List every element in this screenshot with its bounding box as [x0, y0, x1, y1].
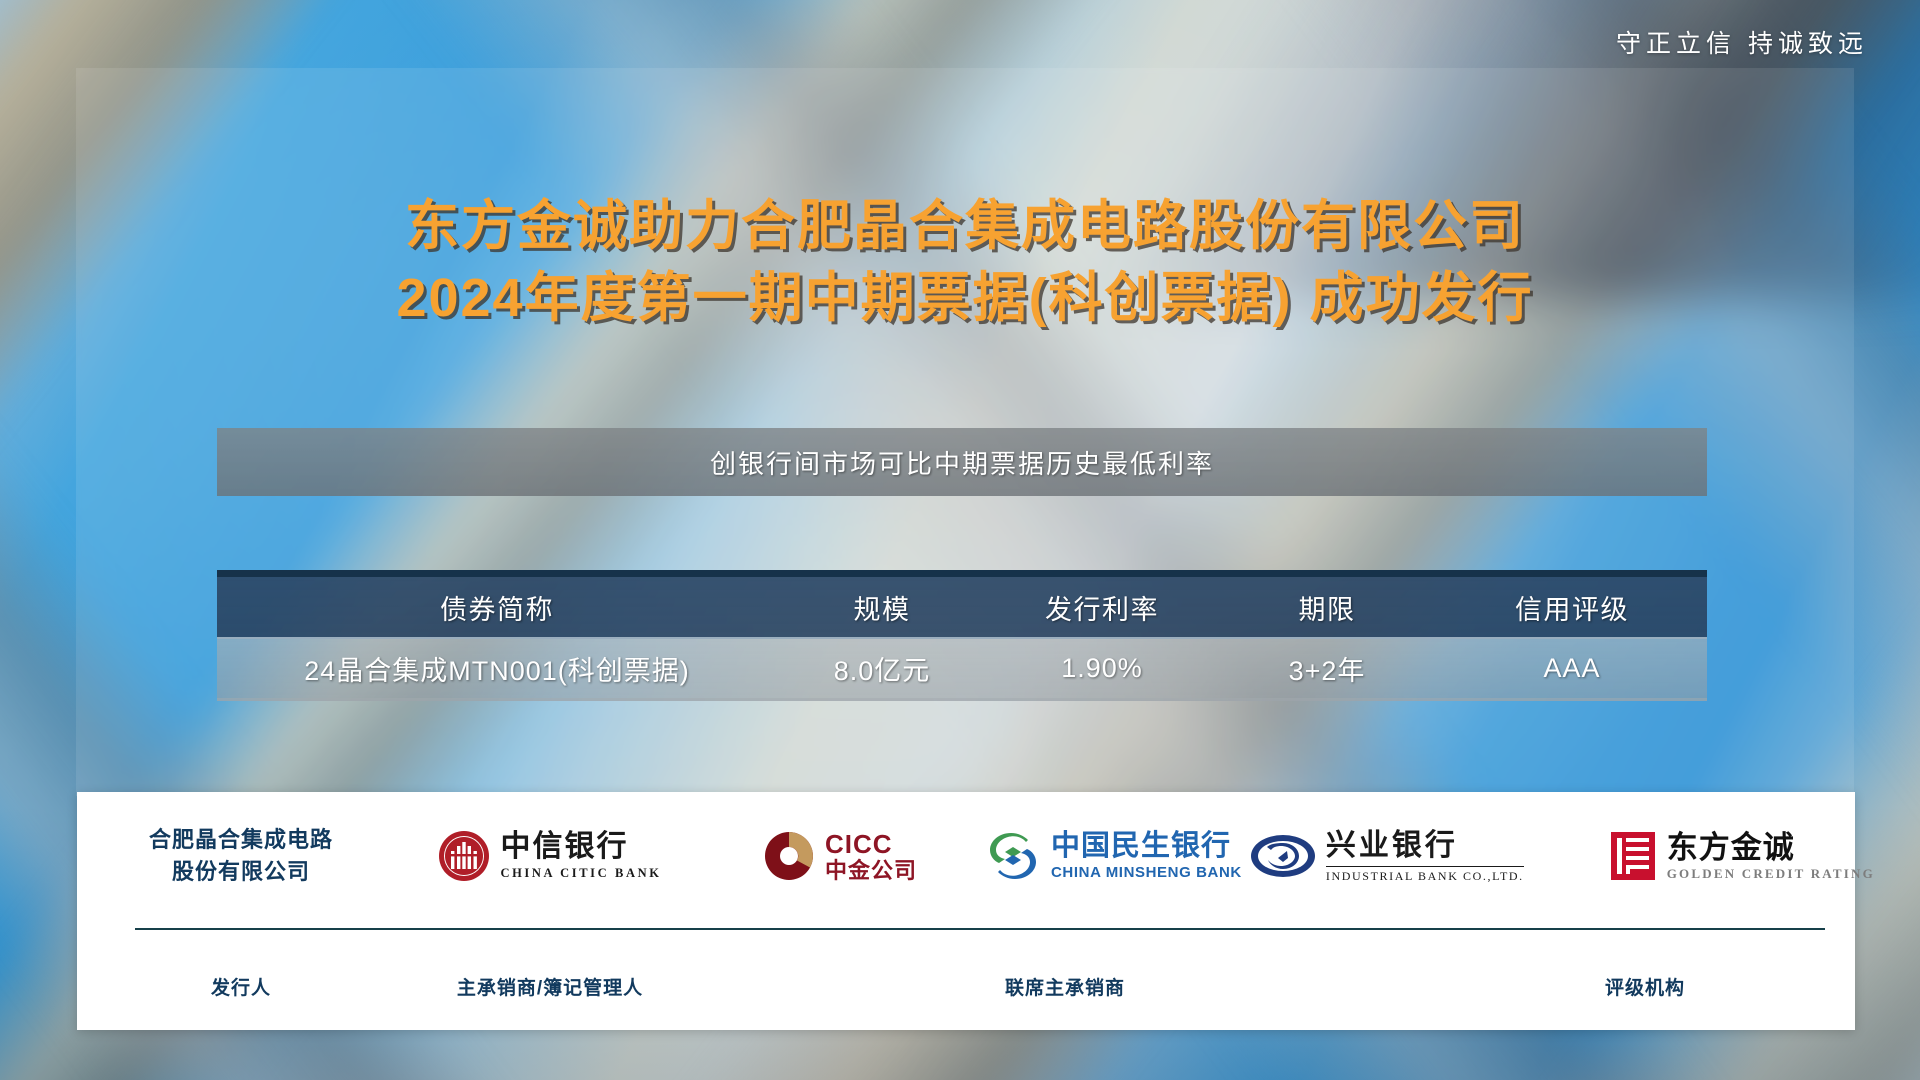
footer-logo-row: 合肥晶合集成电路 股份有限公司 中信银行: [77, 792, 1855, 920]
citic-bank-logo-icon: [438, 830, 490, 882]
minsheng-bank-logo-icon: [985, 830, 1041, 882]
industrial-bank-logo-icon: [1250, 830, 1316, 882]
bond-details-table: 债券简称 规模 发行利率 期限 信用评级 24晶合集成MTN001(科创票据) …: [217, 570, 1707, 701]
table-cell-credit-rating: AAA: [1437, 653, 1707, 684]
table-row: 24晶合集成MTN001(科创票据) 8.0亿元 1.90% 3+2年 AAA: [217, 639, 1707, 701]
table-header-row: 债券简称 规模 发行利率 期限 信用评级: [217, 577, 1707, 639]
footer-role-row: 发行人 主承销商/簿记管理人 联席主承销商 评级机构: [77, 942, 1855, 1030]
golden-credit-name-en: GOLDEN CREDIT RATING: [1667, 867, 1875, 880]
table-cell-issue-rate: 1.90%: [987, 653, 1217, 684]
minsheng-bank-name-en: CHINA MINSHENG BANK: [1051, 865, 1242, 880]
logo-china-citic-bank: 中信银行 CHINA CITIC BANK: [405, 830, 695, 882]
logo-hefei-jinghe: 合肥晶合集成电路 股份有限公司: [77, 824, 405, 888]
table-header-size: 规模: [777, 588, 987, 627]
logo-china-minsheng-bank: 中国民生银行 CHINA MINSHENG BANK: [985, 830, 1242, 882]
role-label-rating-agency: 评级机构: [1435, 973, 1855, 1000]
issuer-name-block: 合肥晶合集成电路 股份有限公司: [149, 824, 333, 888]
logo-golden-credit-rating: 东方金诚 GOLDEN CREDIT RATING: [1532, 829, 1920, 883]
citic-bank-name-cn: 中信银行: [500, 832, 661, 862]
page-title: 东方金诚助力合肥晶合集成电路股份有限公司 2024年度第一期中期票据(科创票据)…: [76, 190, 1854, 335]
golden-credit-name-cn: 东方金诚: [1667, 832, 1875, 863]
issuer-name-line-1: 合肥晶合集成电路: [149, 824, 333, 856]
logo-industrial-bank: 兴业银行 INDUSTRIAL BANK CO.,LTD.: [1242, 830, 1532, 882]
table-cell-tenor: 3+2年: [1217, 649, 1437, 688]
table-top-strip: [217, 570, 1707, 577]
table-cell-size: 8.0亿元: [777, 649, 987, 688]
brand-slogan: 守正立信 持诚致远: [1616, 24, 1868, 60]
industrial-bank-name-en: INDUSTRIAL BANK CO.,LTD.: [1326, 866, 1524, 882]
citic-bank-name-en: CHINA CITIC BANK: [500, 867, 661, 880]
footer-divider: [135, 928, 1825, 930]
role-label-joint-underwriters: 联席主承销商: [695, 973, 1435, 1000]
cicc-logo-icon: [763, 830, 815, 882]
page-title-line-2: 2024年度第一期中期票据(科创票据) 成功发行: [76, 262, 1854, 334]
industrial-bank-name-cn: 兴业银行: [1326, 831, 1524, 861]
golden-credit-rating-logo-icon: [1609, 829, 1657, 883]
subtitle-text: 创银行间市场可比中期票据历史最低利率: [710, 444, 1214, 481]
table-header-credit-rating: 信用评级: [1437, 588, 1707, 627]
table-header-issue-rate: 发行利率: [987, 588, 1217, 627]
table-header-bond-name: 债券简称: [217, 588, 777, 627]
table-header-tenor: 期限: [1217, 588, 1437, 627]
logo-cicc: CICC 中金公司: [695, 830, 985, 882]
issuer-name-line-2: 股份有限公司: [149, 856, 333, 888]
role-label-issuer: 发行人: [77, 973, 405, 1000]
minsheng-bank-name-cn: 中国民生银行: [1051, 832, 1242, 861]
cicc-name-en: CICC: [825, 831, 917, 857]
role-label-lead-underwriter: 主承销商/簿记管理人: [405, 973, 695, 1000]
table-cell-bond-name: 24晶合集成MTN001(科创票据): [217, 649, 777, 688]
subtitle-banner: 创银行间市场可比中期票据历史最低利率: [217, 428, 1707, 496]
page-title-line-1: 东方金诚助力合肥晶合集成电路股份有限公司: [76, 190, 1854, 262]
cicc-name-cn: 中金公司: [825, 860, 917, 882]
footer-panel: 合肥晶合集成电路 股份有限公司 中信银行: [77, 792, 1855, 1030]
